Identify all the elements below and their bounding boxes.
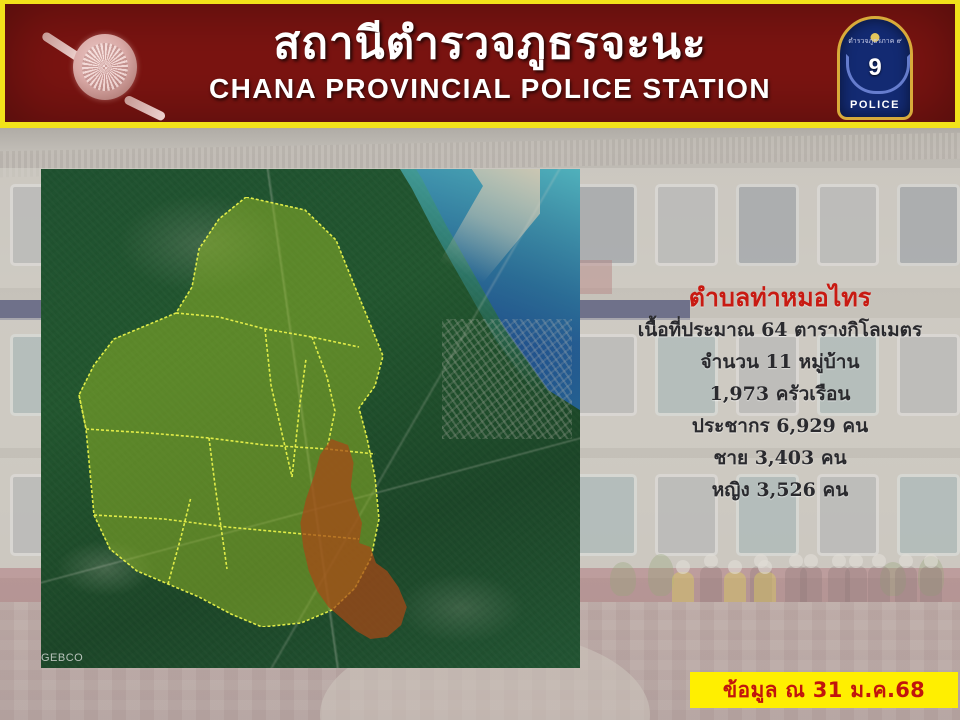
page-title-english: CHANA PROVINCIAL POLICE STATION	[209, 73, 771, 105]
header-title-block: สถานีตำรวจภูธรจะนะ CHANA PROVINCIAL POLI…	[195, 4, 785, 122]
data-date-banner: ข้อมูล ณ 31 ม.ค.68	[690, 672, 958, 708]
window	[736, 184, 799, 266]
info-line-households: 1,973 ครัวเรือน	[600, 380, 960, 409]
header-inner: สถานีตำรวจภูธรจะนะ CHANA PROVINCIAL POLI…	[5, 4, 955, 122]
potted-plant	[610, 562, 636, 596]
data-date-text: ข้อมูล ณ 31 ม.ค.68	[723, 674, 925, 707]
info-line-villages: จำนวน 11 หมู่บ้าน	[600, 348, 960, 377]
ornament-stalk	[123, 94, 166, 121]
map-attribution: GEBCO	[41, 652, 83, 664]
subdistrict-name-heading: ตำบลท่าหมอไทร	[600, 282, 960, 313]
window	[655, 184, 718, 266]
thai-ornament-emblem-icon	[39, 16, 157, 120]
district-boundary-lines	[59, 197, 449, 627]
header-banner: สถานีตำรวจภูธรจะนะ CHANA PROVINCIAL POLI…	[0, 0, 960, 128]
slide-canvas: POLICE	[0, 0, 960, 720]
info-line-female: หญิง 3,526 คน	[600, 476, 960, 505]
badge-thai-arc-text: ตำรวจภูธรภาค ๙	[837, 36, 913, 47]
satellite-map[interactable]: GEBCO	[41, 169, 580, 668]
badge-word: POLICE	[837, 99, 913, 111]
police-badge-icon: ตำรวจภูธรภาค ๙ 9 POLICE	[837, 16, 913, 120]
info-line-area: เนื้อที่ประมาณ 64 ตารางกิโลเมตร	[600, 316, 960, 345]
boundary-svg	[59, 197, 449, 627]
window	[817, 184, 880, 266]
page-title-thai: สถานีตำรวจภูธรจะนะ	[273, 21, 706, 68]
potted-plant	[648, 554, 674, 596]
info-panel: ตำบลท่าหมอไทร เนื้อที่ประมาณ 64 ตารางกิโ…	[600, 282, 960, 505]
window	[575, 184, 638, 266]
info-line-male: ชาย 3,403 คน	[600, 444, 960, 473]
ornament-disc	[73, 34, 137, 100]
badge-number: 9	[837, 54, 913, 82]
info-line-population: ประชากร 6,929 คน	[600, 412, 960, 441]
window	[897, 184, 960, 266]
